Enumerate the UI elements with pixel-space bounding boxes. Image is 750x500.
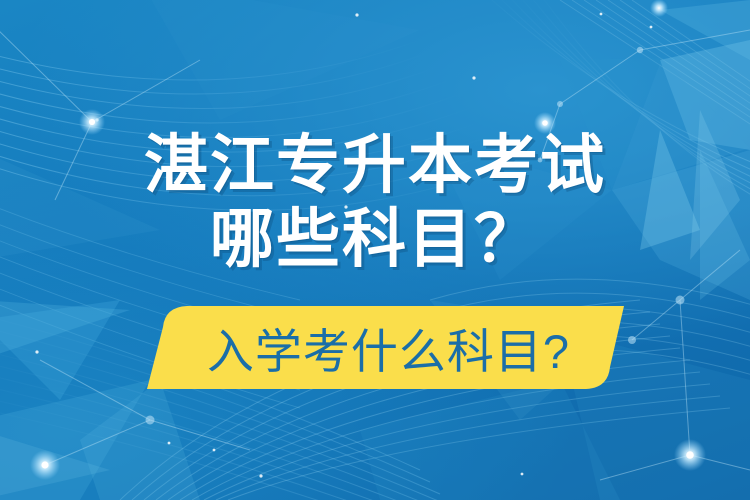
- yellow-ribbon: 入学考什么科目?: [143, 305, 628, 390]
- ribbon-label: 入学考什么科目?: [143, 305, 628, 390]
- promo-banner: 湛江专升本考试 哪些科目？ 入学考什么科目?: [0, 0, 750, 500]
- headline-line-1: 湛江专升本考试: [0, 128, 750, 202]
- headline-line-2: 哪些科目？: [0, 202, 750, 276]
- headline-block: 湛江专升本考试 哪些科目？: [0, 128, 750, 276]
